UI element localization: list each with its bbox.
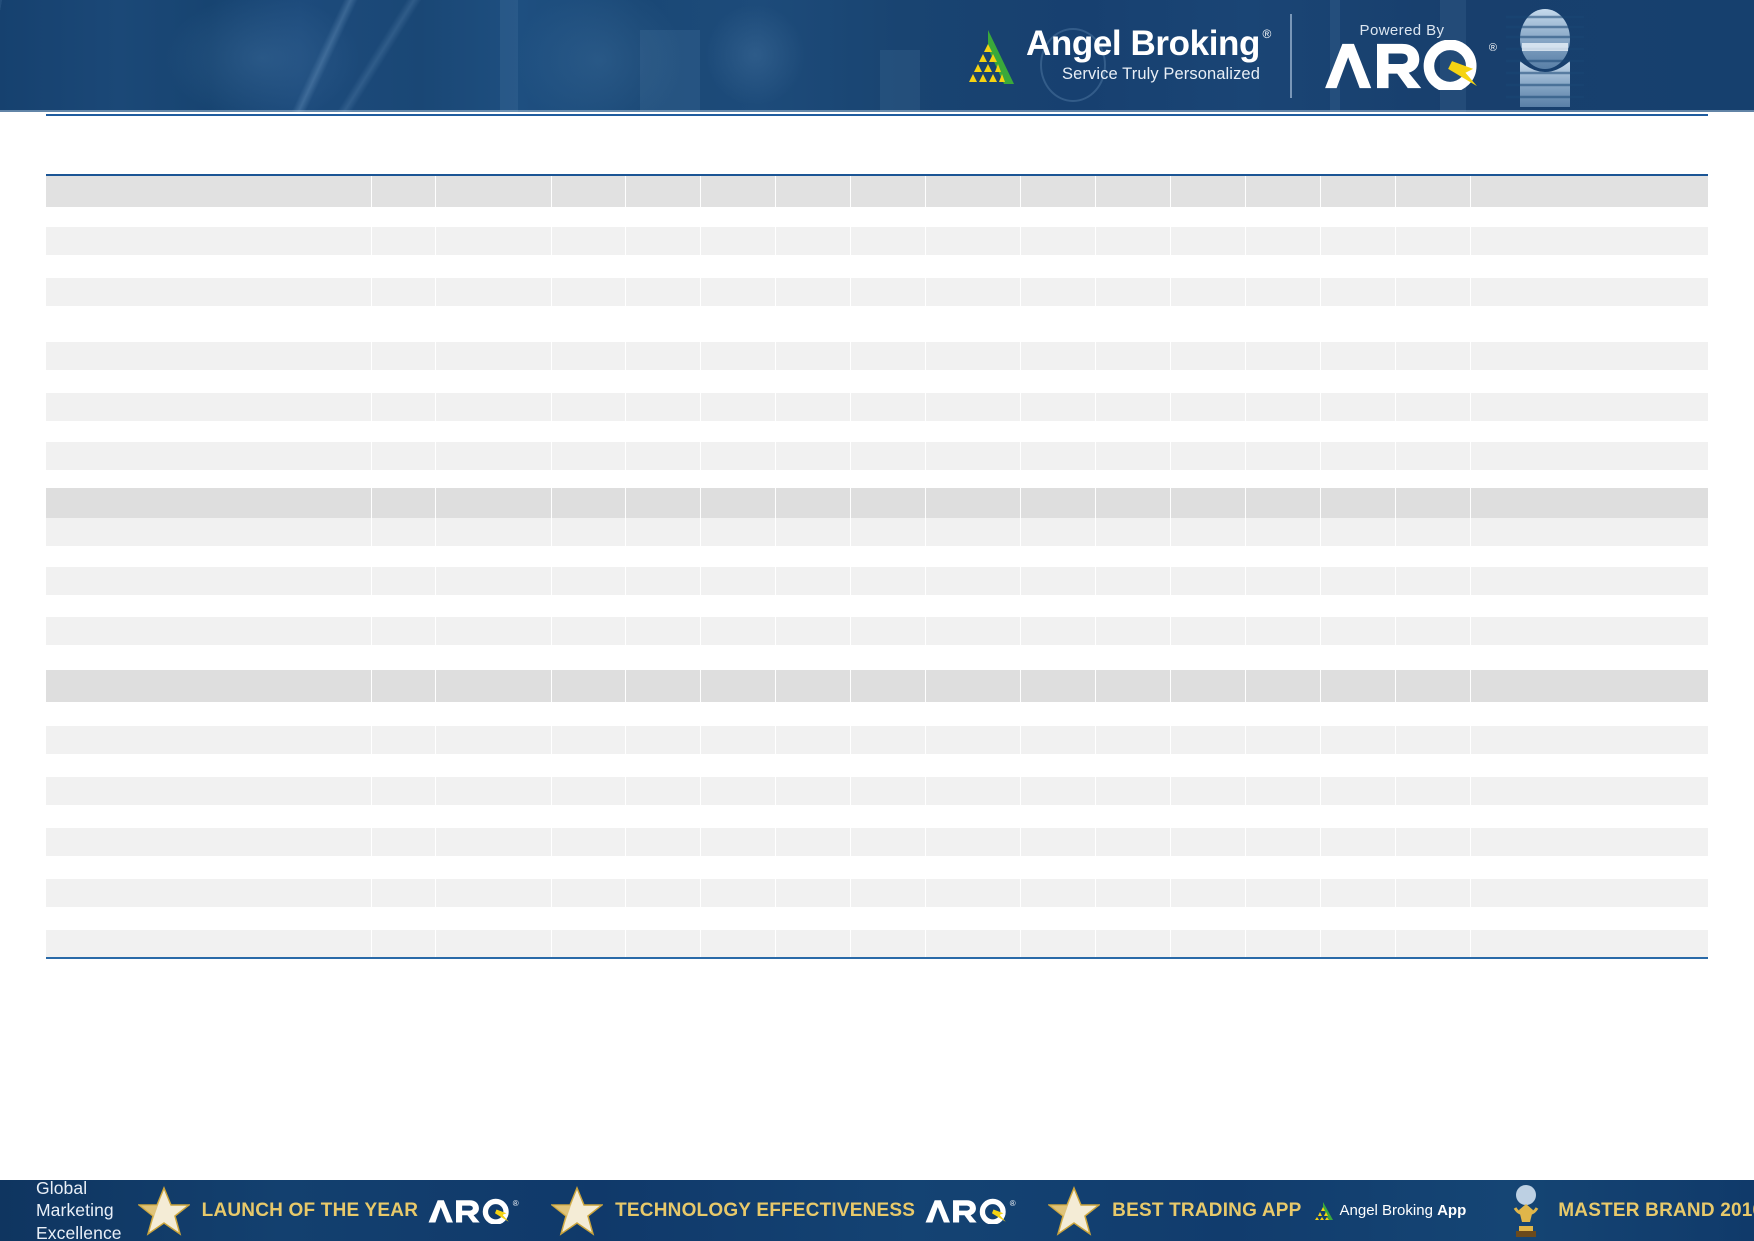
column-separator-4 [700, 278, 701, 306]
column-separator-11 [1245, 670, 1246, 702]
column-separator-1 [435, 227, 436, 255]
column-separator-1 [435, 393, 436, 421]
column-separator-10 [1170, 518, 1171, 546]
column-separator-2 [551, 930, 552, 958]
column-separator-10 [1170, 617, 1171, 645]
column-separator-10 [1170, 442, 1171, 470]
column-separator-5 [775, 567, 776, 595]
column-separator-6 [850, 726, 851, 754]
column-separator-0 [371, 726, 372, 754]
award-label: LAUNCH OF THE YEAR [202, 1200, 418, 1222]
arq-letters-icon [1318, 40, 1486, 90]
brand-name: Angel Broking® [1026, 26, 1260, 61]
column-separator-6 [850, 828, 851, 856]
column-separator-7 [925, 176, 926, 207]
column-separator-13 [1395, 342, 1396, 370]
column-separator-9 [1095, 567, 1096, 595]
table-row[interactable] [46, 930, 1708, 958]
column-separator-9 [1095, 777, 1096, 805]
column-separator-4 [700, 726, 701, 754]
table-subtotal-row[interactable] [46, 670, 1708, 702]
column-separator-8 [1020, 567, 1021, 595]
column-separator-1 [435, 617, 436, 645]
column-separator-12 [1320, 176, 1321, 207]
column-separator-13 [1395, 176, 1396, 207]
column-separator-12 [1320, 879, 1321, 907]
column-separator-3 [625, 278, 626, 306]
column-separator-6 [850, 567, 851, 595]
column-separator-13 [1395, 617, 1396, 645]
column-separator-0 [371, 518, 372, 546]
column-separator-14 [1470, 442, 1471, 470]
column-separator-3 [625, 670, 626, 702]
column-separator-13 [1395, 227, 1396, 255]
column-separator-10 [1170, 930, 1171, 958]
header-texture-diagonals [180, 0, 480, 112]
column-separator-1 [435, 879, 436, 907]
column-separator-9 [1095, 518, 1096, 546]
footer-award-1[interactable]: LAUNCH OF THE YEAR® [122, 1180, 511, 1241]
column-separator-2 [551, 176, 552, 207]
column-separator-4 [700, 930, 701, 958]
table-header-row[interactable] [46, 176, 1708, 207]
header-texture-bar [640, 30, 700, 112]
column-separator-11 [1245, 879, 1246, 907]
column-separator-11 [1245, 828, 1246, 856]
column-separator-4 [700, 670, 701, 702]
column-separator-7 [925, 670, 926, 702]
footer-award-2[interactable]: TECHNOLOGY EFFECTIVENESS® [511, 1180, 1008, 1241]
column-separator-2 [551, 617, 552, 645]
column-separator-14 [1470, 777, 1471, 805]
column-separator-9 [1095, 726, 1096, 754]
column-separator-0 [371, 879, 372, 907]
column-separator-0 [371, 828, 372, 856]
column-separator-0 [371, 488, 372, 518]
column-separator-5 [775, 278, 776, 306]
award-product-arq-icon: ® [427, 1198, 511, 1224]
column-separator-3 [625, 777, 626, 805]
column-separator-2 [551, 518, 552, 546]
column-separator-14 [1470, 828, 1471, 856]
column-separator-10 [1170, 670, 1171, 702]
registered-mark: ® [1263, 28, 1271, 40]
column-separator-11 [1245, 777, 1246, 805]
column-separator-13 [1395, 777, 1396, 805]
column-separator-11 [1245, 567, 1246, 595]
column-separator-3 [625, 342, 626, 370]
column-separator-12 [1320, 567, 1321, 595]
column-separator-4 [700, 227, 701, 255]
column-separator-5 [775, 930, 776, 958]
column-separator-3 [625, 227, 626, 255]
column-separator-2 [551, 442, 552, 470]
column-separator-12 [1320, 828, 1321, 856]
column-separator-8 [1020, 393, 1021, 421]
column-separator-1 [435, 442, 436, 470]
column-separator-13 [1395, 488, 1396, 518]
column-separator-5 [775, 617, 776, 645]
column-separator-5 [775, 176, 776, 207]
column-separator-3 [625, 930, 626, 958]
column-separator-4 [700, 342, 701, 370]
column-separator-9 [1095, 670, 1096, 702]
column-separator-6 [850, 879, 851, 907]
column-separator-9 [1095, 442, 1096, 470]
table-row[interactable] [46, 879, 1708, 907]
column-separator-8 [1020, 176, 1021, 207]
column-separator-2 [551, 670, 552, 702]
arq-ai-head-icon [1500, 3, 1590, 109]
footer-headline-line2: Excellence Awards Across 90 Countries [36, 1222, 122, 1241]
trophy-award-icon [1506, 1184, 1546, 1238]
registered-mark: ® [1489, 43, 1498, 53]
column-separator-7 [925, 777, 926, 805]
column-separator-1 [435, 488, 436, 518]
column-separator-2 [551, 726, 552, 754]
column-separator-8 [1020, 930, 1021, 958]
column-separator-0 [371, 567, 372, 595]
column-separator-14 [1470, 617, 1471, 645]
award-product-label: Angel Broking App [1340, 1202, 1467, 1219]
column-separator-8 [1020, 227, 1021, 255]
column-separator-5 [775, 726, 776, 754]
column-separator-5 [775, 342, 776, 370]
column-separator-1 [435, 567, 436, 595]
column-separator-7 [925, 227, 926, 255]
footer-award-4[interactable]: MASTER BRAND 2016Angel Broking [1466, 1180, 1754, 1241]
column-separator-8 [1020, 879, 1021, 907]
table-row[interactable] [46, 617, 1708, 645]
column-separator-14 [1470, 879, 1471, 907]
column-separator-14 [1470, 278, 1471, 306]
column-separator-14 [1470, 393, 1471, 421]
column-separator-9 [1095, 828, 1096, 856]
column-separator-9 [1095, 227, 1096, 255]
column-separator-2 [551, 777, 552, 805]
column-separator-10 [1170, 777, 1171, 805]
header-texture-bar [500, 0, 518, 112]
table-row[interactable] [46, 278, 1708, 306]
column-separator-3 [625, 567, 626, 595]
column-separator-13 [1395, 567, 1396, 595]
column-separator-12 [1320, 488, 1321, 518]
column-separator-11 [1245, 930, 1246, 958]
column-separator-4 [700, 393, 701, 421]
column-separator-10 [1170, 342, 1171, 370]
column-separator-7 [925, 726, 926, 754]
column-separator-11 [1245, 726, 1246, 754]
column-separator-6 [850, 278, 851, 306]
column-separator-7 [925, 930, 926, 958]
column-separator-14 [1470, 930, 1471, 958]
column-separator-7 [925, 617, 926, 645]
column-separator-10 [1170, 393, 1171, 421]
column-separator-9 [1095, 617, 1096, 645]
column-separator-10 [1170, 176, 1171, 207]
column-separator-2 [551, 278, 552, 306]
column-separator-8 [1020, 518, 1021, 546]
column-separator-12 [1320, 726, 1321, 754]
column-separator-6 [850, 442, 851, 470]
award-label: MASTER BRAND 2016 [1558, 1200, 1754, 1222]
column-separator-6 [850, 176, 851, 207]
column-separator-3 [625, 393, 626, 421]
column-separator-7 [925, 879, 926, 907]
column-separator-10 [1170, 828, 1171, 856]
column-separator-4 [700, 567, 701, 595]
column-separator-0 [371, 393, 372, 421]
column-separator-4 [700, 518, 701, 546]
column-separator-12 [1320, 518, 1321, 546]
column-separator-1 [435, 726, 436, 754]
column-separator-12 [1320, 442, 1321, 470]
column-separator-10 [1170, 726, 1171, 754]
column-separator-3 [625, 442, 626, 470]
column-separator-10 [1170, 278, 1171, 306]
column-separator-14 [1470, 726, 1471, 754]
column-separator-11 [1245, 278, 1246, 306]
column-separator-2 [551, 879, 552, 907]
footer-awards-list: LAUNCH OF THE YEAR®TECHNOLOGY EFFECTIVEN… [122, 1180, 1754, 1241]
column-separator-4 [700, 488, 701, 518]
column-separator-12 [1320, 227, 1321, 255]
column-separator-11 [1245, 227, 1246, 255]
table-subtotal-row[interactable] [46, 488, 1708, 518]
column-separator-9 [1095, 278, 1096, 306]
column-separator-5 [775, 227, 776, 255]
column-separator-9 [1095, 930, 1096, 958]
column-separator-7 [925, 278, 926, 306]
column-separator-0 [371, 617, 372, 645]
page-footer-band: Angel Broking Wins Global Marketing Exce… [0, 1180, 1754, 1241]
column-separator-6 [850, 518, 851, 546]
column-separator-9 [1095, 879, 1096, 907]
footer-headline: Angel Broking Wins Global Marketing Exce… [0, 1180, 122, 1241]
column-separator-13 [1395, 828, 1396, 856]
column-separator-13 [1395, 670, 1396, 702]
column-separator-14 [1470, 176, 1471, 207]
column-separator-4 [700, 617, 701, 645]
column-separator-1 [435, 828, 436, 856]
column-separator-5 [775, 518, 776, 546]
column-separator-8 [1020, 342, 1021, 370]
document-body [0, 112, 1754, 1180]
star-award-icon [551, 1185, 603, 1237]
column-separator-11 [1245, 518, 1246, 546]
column-separator-14 [1470, 567, 1471, 595]
column-separator-3 [625, 518, 626, 546]
table-row[interactable] [46, 567, 1708, 595]
column-separator-6 [850, 777, 851, 805]
table-row[interactable] [46, 342, 1708, 370]
column-separator-8 [1020, 278, 1021, 306]
column-separator-0 [371, 227, 372, 255]
column-separator-14 [1470, 227, 1471, 255]
powered-by-label: Powered By [1360, 22, 1445, 39]
table-row[interactable] [46, 518, 1708, 546]
column-separator-13 [1395, 518, 1396, 546]
column-separator-3 [625, 617, 626, 645]
column-separator-8 [1020, 617, 1021, 645]
column-separator-7 [925, 567, 926, 595]
column-separator-1 [435, 278, 436, 306]
logo-divider [1290, 14, 1292, 98]
award-label: TECHNOLOGY EFFECTIVENESS [615, 1200, 915, 1222]
column-separator-1 [435, 930, 436, 958]
column-separator-9 [1095, 176, 1096, 207]
table-row[interactable] [46, 393, 1708, 421]
column-separator-0 [371, 442, 372, 470]
footer-headline-line1: Angel Broking Wins Global Marketing [36, 1180, 122, 1222]
arq-logo: Powered By ® [1318, 22, 1486, 90]
column-separator-2 [551, 567, 552, 595]
column-separator-7 [925, 518, 926, 546]
column-separator-11 [1245, 342, 1246, 370]
column-separator-7 [925, 393, 926, 421]
column-separator-9 [1095, 342, 1096, 370]
column-separator-7 [925, 342, 926, 370]
column-separator-13 [1395, 879, 1396, 907]
column-separator-0 [371, 176, 372, 207]
column-separator-4 [700, 828, 701, 856]
column-separator-14 [1470, 518, 1471, 546]
column-separator-11 [1245, 442, 1246, 470]
angel-broking-logo: Angel Broking® Service Truly Personalize… [960, 26, 1260, 85]
column-separator-8 [1020, 442, 1021, 470]
angel-broking-wordmark: Angel Broking® Service Truly Personalize… [1026, 26, 1260, 85]
column-separator-12 [1320, 393, 1321, 421]
angel-broking-triangle-icon [960, 28, 1016, 86]
table-row[interactable] [46, 726, 1708, 754]
column-separator-6 [850, 930, 851, 958]
column-separator-6 [850, 488, 851, 518]
column-separator-5 [775, 393, 776, 421]
column-separator-10 [1170, 488, 1171, 518]
column-separator-0 [371, 930, 372, 958]
column-separator-5 [775, 777, 776, 805]
column-separator-2 [551, 393, 552, 421]
data-table[interactable] [46, 176, 1708, 957]
column-separator-1 [435, 342, 436, 370]
column-separator-1 [435, 670, 436, 702]
column-separator-11 [1245, 393, 1246, 421]
column-separator-7 [925, 488, 926, 518]
column-separator-1 [435, 777, 436, 805]
column-separator-13 [1395, 442, 1396, 470]
column-separator-0 [371, 777, 372, 805]
column-separator-12 [1320, 342, 1321, 370]
column-separator-2 [551, 342, 552, 370]
table-row[interactable] [46, 777, 1708, 805]
column-separator-13 [1395, 278, 1396, 306]
column-separator-0 [371, 670, 372, 702]
column-separator-3 [625, 879, 626, 907]
award-product-angel-broking: Angel Broking App [1312, 1201, 1467, 1221]
column-separator-7 [925, 828, 926, 856]
column-separator-6 [850, 670, 851, 702]
angel-broking-triangle-icon [1312, 1201, 1334, 1221]
column-separator-8 [1020, 777, 1021, 805]
column-separator-6 [850, 617, 851, 645]
column-separator-13 [1395, 930, 1396, 958]
column-separator-3 [625, 726, 626, 754]
column-separator-2 [551, 828, 552, 856]
column-separator-14 [1470, 342, 1471, 370]
column-separator-5 [775, 442, 776, 470]
star-award-icon [138, 1185, 190, 1237]
column-separator-5 [775, 670, 776, 702]
column-separator-2 [551, 227, 552, 255]
footer-award-3[interactable]: BEST TRADING APPAngel Broking App [1008, 1180, 1466, 1241]
column-separator-10 [1170, 227, 1171, 255]
column-separator-8 [1020, 488, 1021, 518]
column-separator-6 [850, 342, 851, 370]
column-separator-1 [435, 176, 436, 207]
column-separator-3 [625, 488, 626, 518]
column-separator-11 [1245, 488, 1246, 518]
award-label: BEST TRADING APP [1112, 1200, 1301, 1222]
column-separator-4 [700, 879, 701, 907]
column-separator-0 [371, 278, 372, 306]
top-rule [46, 114, 1708, 116]
column-separator-2 [551, 488, 552, 518]
award-product-arq-icon: ® [924, 1198, 1008, 1224]
column-separator-14 [1470, 488, 1471, 518]
table-row[interactable] [46, 227, 1708, 255]
table-row[interactable] [46, 828, 1708, 856]
column-separator-5 [775, 488, 776, 518]
column-separator-6 [850, 393, 851, 421]
column-separator-6 [850, 227, 851, 255]
column-separator-3 [625, 828, 626, 856]
column-separator-4 [700, 777, 701, 805]
column-separator-10 [1170, 567, 1171, 595]
column-separator-13 [1395, 726, 1396, 754]
column-separator-12 [1320, 930, 1321, 958]
arq-wordmark: ® [1318, 40, 1486, 90]
column-separator-5 [775, 828, 776, 856]
column-separator-9 [1095, 488, 1096, 518]
column-separator-13 [1395, 393, 1396, 421]
column-separator-1 [435, 518, 436, 546]
column-separator-8 [1020, 726, 1021, 754]
column-separator-12 [1320, 617, 1321, 645]
header-texture-bar [880, 50, 920, 112]
column-separator-12 [1320, 777, 1321, 805]
column-separator-8 [1020, 828, 1021, 856]
table-row[interactable] [46, 442, 1708, 470]
column-separator-9 [1095, 393, 1096, 421]
column-separator-5 [775, 879, 776, 907]
column-separator-8 [1020, 670, 1021, 702]
column-separator-0 [371, 342, 372, 370]
brand-tagline: Service Truly Personalized [1062, 63, 1260, 85]
page-header-band: Angel Broking® Service Truly Personalize… [0, 0, 1754, 112]
bottom-rule [46, 957, 1708, 959]
column-separator-4 [700, 442, 701, 470]
column-separator-12 [1320, 278, 1321, 306]
column-separator-7 [925, 442, 926, 470]
column-separator-4 [700, 176, 701, 207]
brand-logo-zone: Angel Broking® Service Truly Personalize… [950, 0, 1754, 112]
column-separator-11 [1245, 176, 1246, 207]
column-separator-12 [1320, 670, 1321, 702]
column-separator-3 [625, 176, 626, 207]
column-separator-11 [1245, 617, 1246, 645]
column-separator-10 [1170, 879, 1171, 907]
star-award-icon [1048, 1185, 1100, 1237]
